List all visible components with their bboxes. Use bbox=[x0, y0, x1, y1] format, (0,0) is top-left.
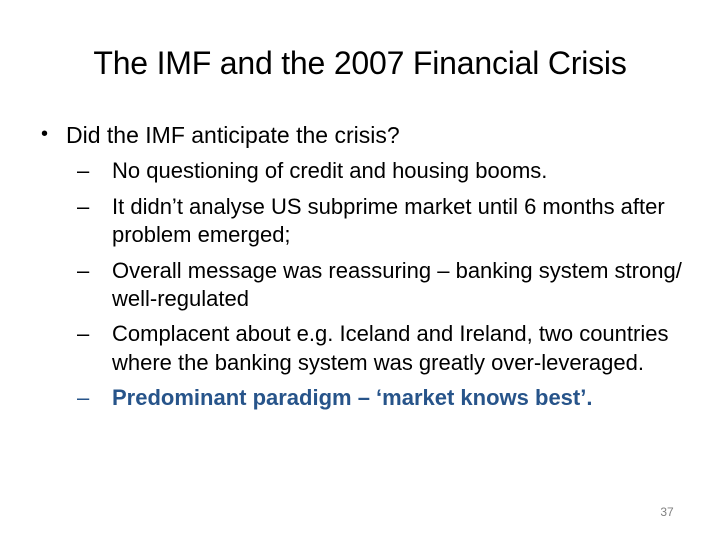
slide-number: 37 bbox=[645, 506, 689, 518]
bullet-dash-icon: – bbox=[77, 193, 112, 221]
bullet-item-level-2: –It didn’t analyse US subprime market un… bbox=[36, 193, 692, 257]
bullet-item-level-2: –No questioning of credit and housing bo… bbox=[36, 157, 692, 192]
bullet-item-level-2: –Complacent about e.g. Iceland and Irela… bbox=[36, 320, 692, 384]
bullet-text: Did the IMF anticipate the crisis? bbox=[66, 121, 692, 150]
slide-body-placeholder: •Did the IMF anticipate the crisis?–No q… bbox=[36, 121, 692, 419]
presentation-slide: The IMF and the 2007 Financial Crisis •D… bbox=[0, 0, 720, 540]
bullet-text: It didn’t analyse US subprime market unt… bbox=[112, 193, 692, 250]
bullet-dash-icon: – bbox=[77, 157, 112, 185]
bullet-dash-icon: – bbox=[77, 384, 112, 412]
bullet-dash-icon: – bbox=[77, 320, 112, 348]
slide-title-placeholder: The IMF and the 2007 Financial Crisis bbox=[36, 36, 684, 92]
bullet-text: Overall message was reassuring – banking… bbox=[112, 257, 692, 314]
bullet-text: Predominant paradigm – ‘market knows bes… bbox=[112, 384, 692, 412]
bullet-dash-icon: – bbox=[77, 257, 112, 285]
page-title: The IMF and the 2007 Financial Crisis bbox=[93, 46, 626, 82]
bullet-dot-icon: • bbox=[41, 121, 66, 149]
bullet-item-level-2: –Predominant paradigm – ‘market knows be… bbox=[36, 384, 692, 419]
bullet-item-level-1: •Did the IMF anticipate the crisis? bbox=[36, 121, 692, 157]
bullet-item-level-2: –Overall message was reassuring – bankin… bbox=[36, 257, 692, 321]
bullet-text: No questioning of credit and housing boo… bbox=[112, 157, 692, 185]
bullet-text: Complacent about e.g. Iceland and Irelan… bbox=[112, 320, 692, 377]
